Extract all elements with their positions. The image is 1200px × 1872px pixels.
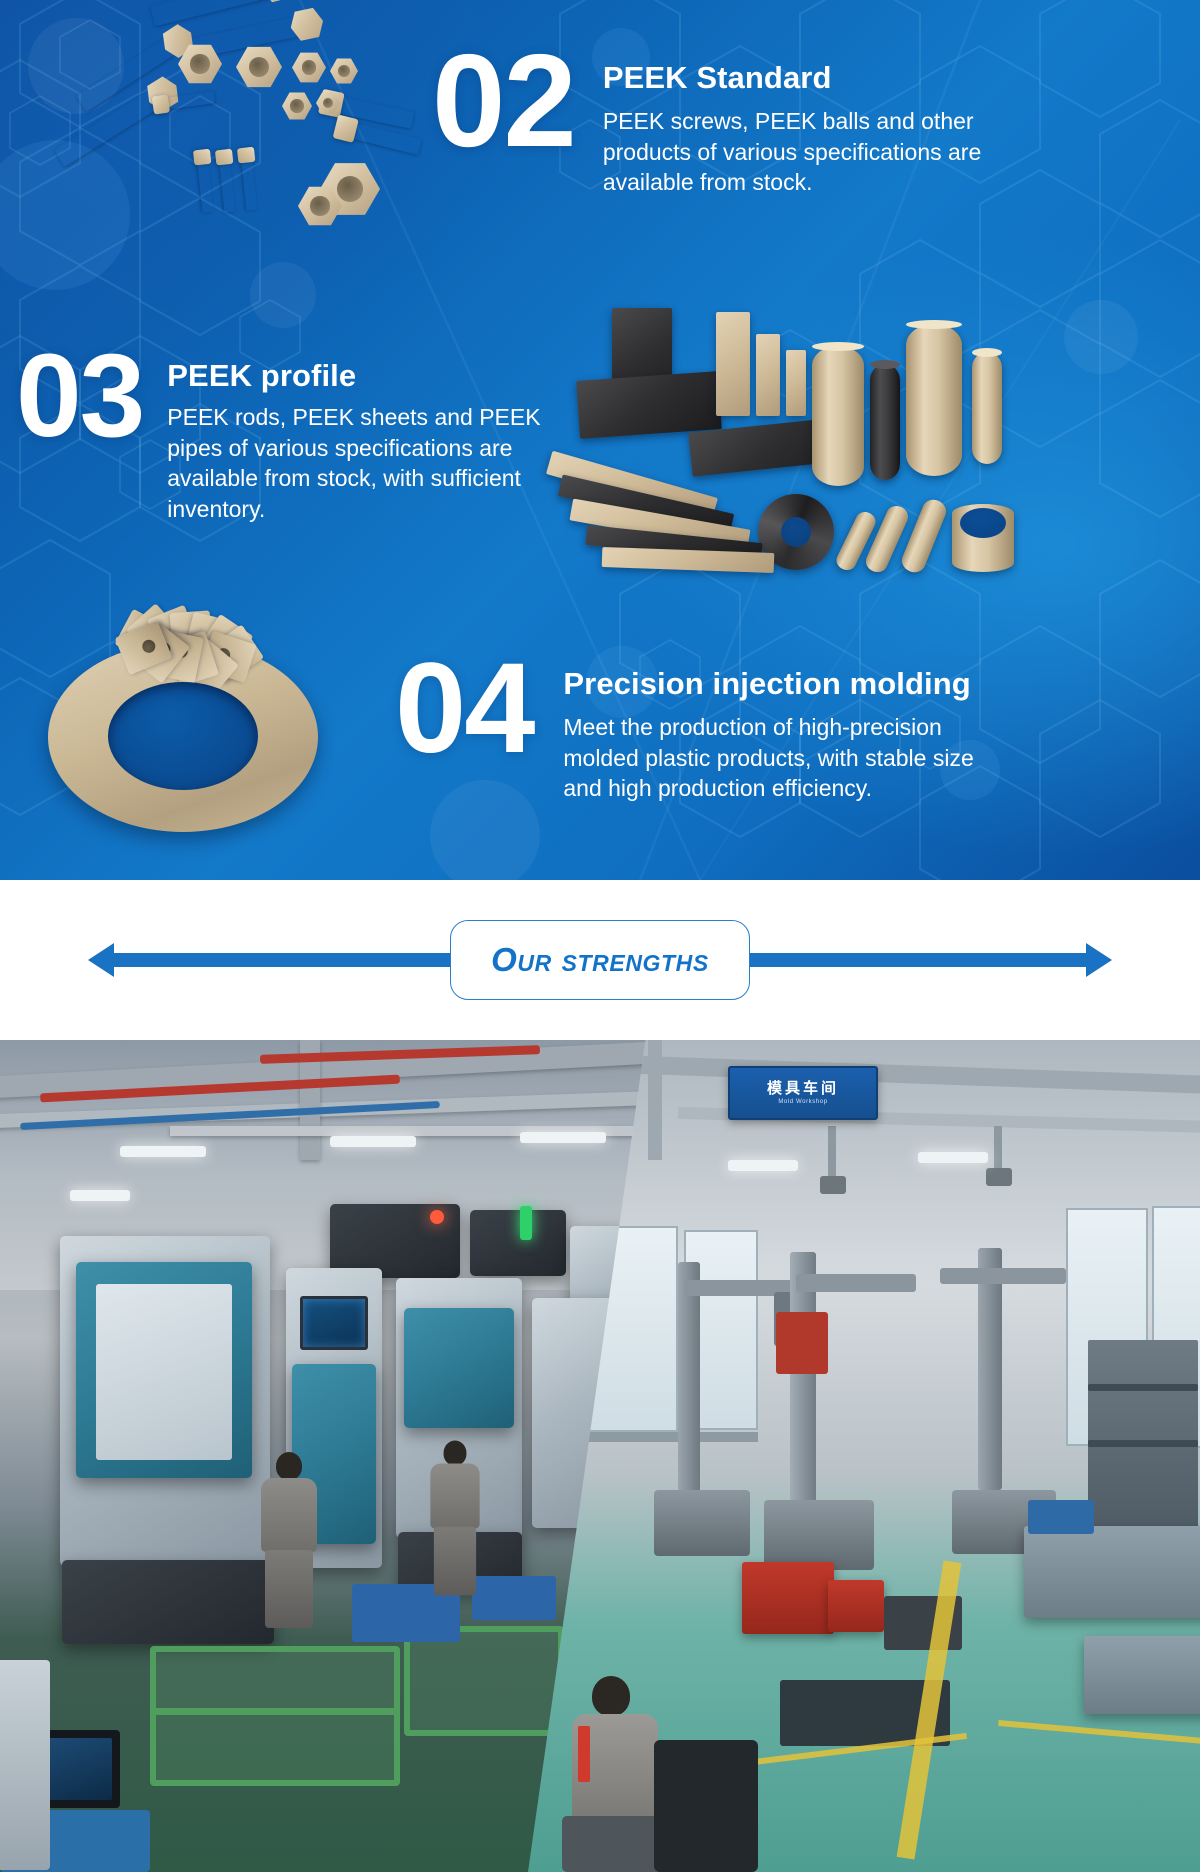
feature-title-02: PEEK Standard [603,60,1003,96]
hero-section: 02 PEEK Standard PEEK screws, PEEK balls… [0,0,1200,880]
feature-body-02: PEEK screws, PEEK balls and other produc… [603,106,1003,198]
strengths-label: Our strengths [491,941,709,979]
workshop-sign: 模具车间 Mold Workshop [728,1066,878,1120]
factory-gallery: 模具车间 Mold Workshop [0,1040,1200,1872]
bokeh-circle [250,262,316,328]
feature-number-04: 04 [395,650,533,768]
arrow-left-icon [88,943,114,977]
peek-rods-sheets-pipes-image [540,298,1200,598]
peek-screws-nuts-image [30,0,450,270]
feature-body-03: PEEK rods, PEEK sheets and PEEK pipes of… [167,402,545,524]
worker-figure [254,1452,324,1642]
feature-block-03: 03 PEEK profile PEEK rods, PEEK sheets a… [16,342,545,524]
feature-title-04: Precision injection molding [563,666,983,702]
radial-drill-machine [742,1252,912,1582]
feature-block-02: 02 PEEK Standard PEEK screws, PEEK balls… [432,40,1003,198]
feature-number-02: 02 [432,40,575,161]
workshop-sign-cn: 模具车间 [767,1081,839,1096]
arrow-right-icon [1086,943,1112,977]
feature-title-03: PEEK profile [167,358,545,394]
strengths-pill: Our strengths [450,920,750,1000]
feature-body-04: Meet the production of high-precision mo… [563,712,983,804]
our-strengths-divider: Our strengths [0,880,1200,1040]
workshop-sign-en: Mold Workshop [778,1099,827,1105]
feature-number-03: 03 [16,342,143,451]
office-chair [654,1740,758,1872]
mold-workshop-photo: 模具车间 Mold Workshop [528,1040,1200,1872]
worker-figure [428,1441,483,1596]
peek-molded-gear-image [40,620,330,860]
feature-block-04: 04 Precision injection molding Meet the … [395,650,983,804]
